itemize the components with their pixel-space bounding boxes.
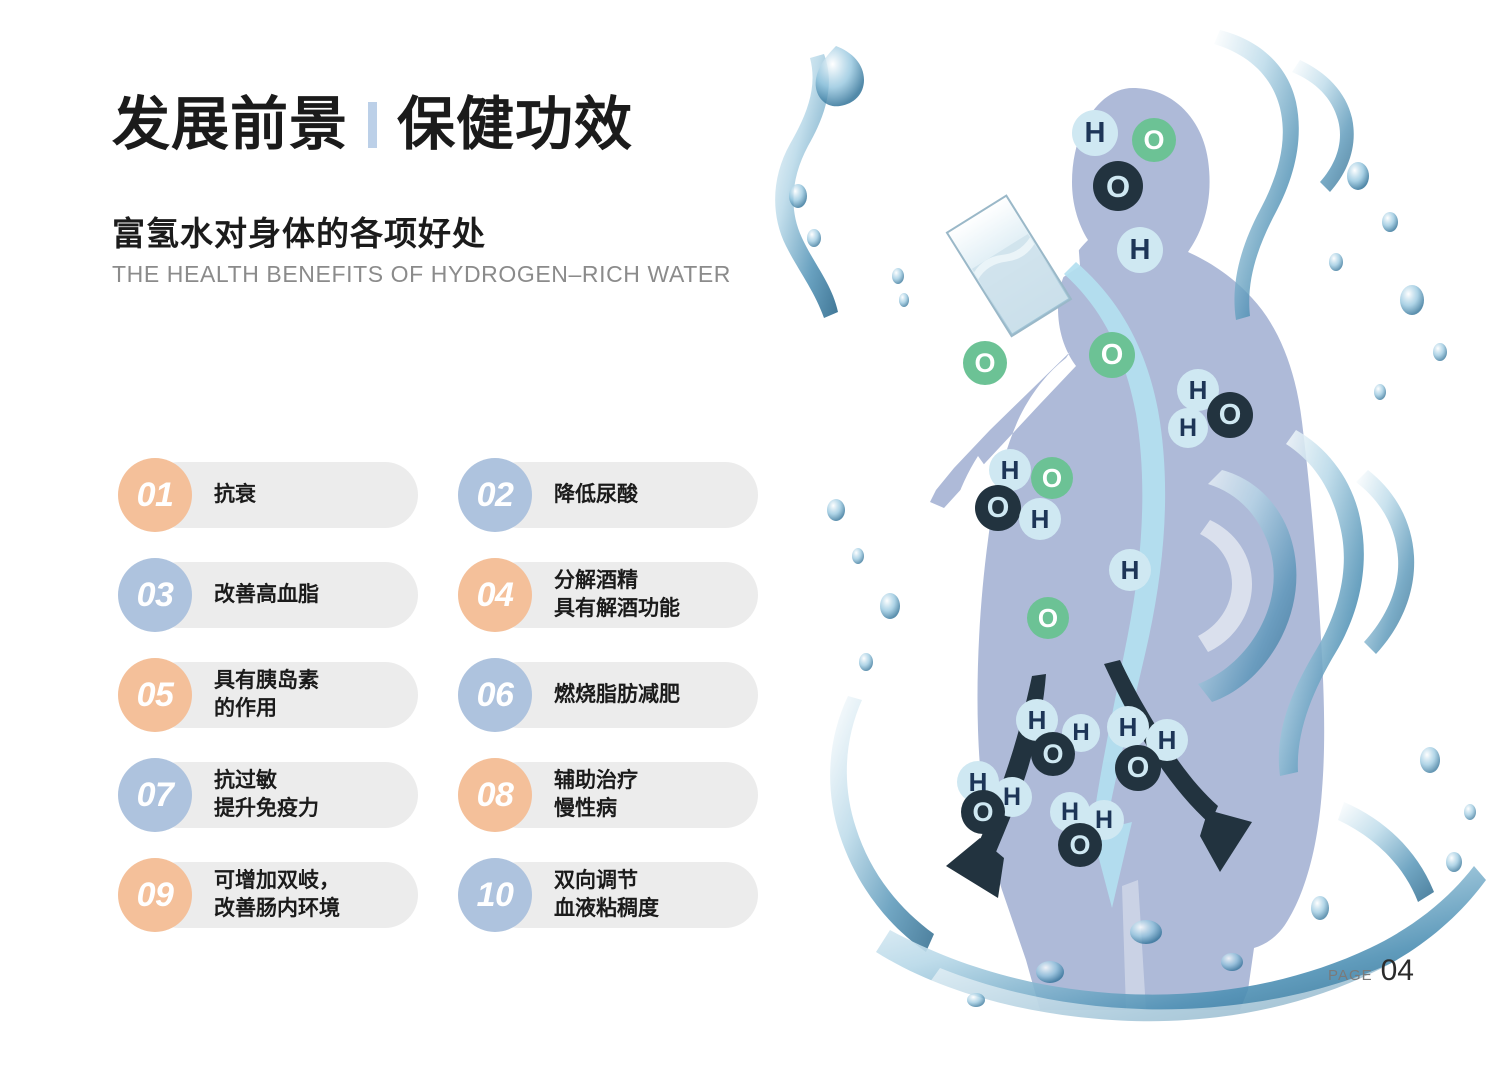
benefit-label: 具有胰岛素 的作用 <box>214 667 319 724</box>
benefit-item[interactable]: 10双向调节 血液粘稠度 <box>458 856 758 934</box>
benefit-number-badge: 05 <box>118 658 192 732</box>
benefit-label: 抗过敏 提升免疫力 <box>214 767 319 824</box>
oxygen-molecule-icon: O <box>961 790 1005 834</box>
benefit-item[interactable]: 03改善高血脂 <box>118 556 418 634</box>
benefit-number-badge: 04 <box>458 558 532 632</box>
hydrogen-molecule-icon: H <box>1117 227 1163 273</box>
benefit-label: 抗衰 <box>214 481 256 509</box>
title-divider <box>368 102 377 148</box>
page-number-label: PAGE <box>1328 967 1373 984</box>
benefit-label: 分解酒精 具有解酒功能 <box>554 567 680 624</box>
benefit-item[interactable]: 01抗衰 <box>118 456 418 534</box>
benefit-number-badge: 10 <box>458 858 532 932</box>
hydrogen-molecule-icon: H <box>1019 498 1061 540</box>
benefit-label: 可增加双岐， 改善肠内环境 <box>214 867 340 924</box>
benefit-number-badge: 01 <box>118 458 192 532</box>
oxygen-molecule-icon: O <box>1058 823 1102 867</box>
benefit-label: 燃烧脂肪减肥 <box>554 681 680 709</box>
benefit-item[interactable]: 06燃烧脂肪减肥 <box>458 656 758 734</box>
benefit-number-badge: 02 <box>458 458 532 532</box>
oxygen-molecule-icon: O <box>1115 745 1161 791</box>
body-silhouette-graphic <box>740 0 1500 1066</box>
oxygen-molecule-icon: O <box>1089 332 1135 378</box>
benefit-label: 降低尿酸 <box>554 481 638 509</box>
illustration-panel: HOOHOOHHOHOOHHOHHOHHOHHOHHO <box>740 0 1500 1066</box>
benefit-item[interactable]: 07抗过敏 提升免疫力 <box>118 756 418 834</box>
slide-page: 发展前景 保健功效 富氢水对身体的各项好处 THE HEALTH BENEFIT… <box>0 0 1500 1066</box>
hydrogen-molecule-icon: H <box>1168 408 1208 448</box>
benefit-number-badge: 09 <box>118 858 192 932</box>
benefit-number-badge: 06 <box>458 658 532 732</box>
benefit-label: 双向调节 血液粘稠度 <box>554 867 659 924</box>
oxygen-molecule-icon: O <box>1132 118 1176 162</box>
title-main: 发展前景 <box>112 96 348 154</box>
oxygen-molecule-icon: O <box>975 485 1021 531</box>
benefit-number-badge: 07 <box>118 758 192 832</box>
oxygen-molecule-icon: O <box>1027 597 1069 639</box>
subtitle-english: THE HEALTH BENEFITS OF HYDROGEN–RICH WAT… <box>112 262 732 287</box>
benefit-item[interactable]: 09可增加双岐， 改善肠内环境 <box>118 856 418 934</box>
benefit-label: 辅助治疗 慢性病 <box>554 767 638 824</box>
benefit-number-badge: 03 <box>118 558 192 632</box>
hydrogen-molecule-icon: H <box>1072 110 1118 156</box>
benefit-number-badge: 08 <box>458 758 532 832</box>
benefit-label: 改善高血脂 <box>214 581 319 609</box>
oxygen-molecule-icon: O <box>963 341 1007 385</box>
oxygen-molecule-icon: O <box>1031 457 1073 499</box>
hydrogen-molecule-icon: H <box>1109 549 1151 591</box>
page-header: 发展前景 保健功效 富氢水对身体的各项好处 THE HEALTH BENEFIT… <box>112 96 732 288</box>
page-title: 发展前景 保健功效 <box>112 96 732 154</box>
title-sub: 保健功效 <box>397 96 633 154</box>
benefit-item[interactable]: 05具有胰岛素 的作用 <box>118 656 418 734</box>
subtitle-chinese: 富氢水对身体的各项好处 <box>112 216 732 252</box>
oxygen-molecule-icon: O <box>1093 161 1143 211</box>
oxygen-molecule-icon: O <box>1031 732 1075 776</box>
benefits-list: 01抗衰02降低尿酸03改善高血脂04分解酒精 具有解酒功能05具有胰岛素 的作… <box>118 456 758 934</box>
oxygen-molecule-icon: O <box>1207 392 1253 438</box>
page-number: PAGE 04 <box>1328 954 1414 988</box>
benefit-item[interactable]: 02降低尿酸 <box>458 456 758 534</box>
benefit-item[interactable]: 08辅助治疗 慢性病 <box>458 756 758 834</box>
benefit-item[interactable]: 04分解酒精 具有解酒功能 <box>458 556 758 634</box>
hydrogen-molecule-icon: H <box>1107 706 1149 748</box>
page-number-value: 04 <box>1381 954 1414 988</box>
